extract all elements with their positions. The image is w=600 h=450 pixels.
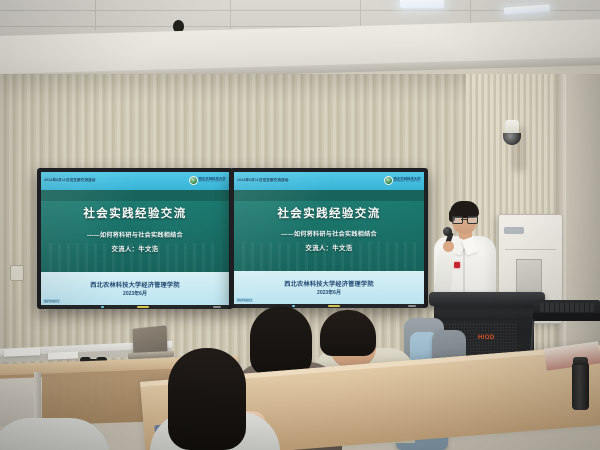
university-logo: 西北农林科技大学 NORTHWEST A&F UNIVERSITY (384, 176, 421, 185)
bottle-cap[interactable] (573, 357, 588, 365)
party-badge-icon (454, 262, 460, 268)
display-screen-right[interactable]: 2023年6月11日党支部交流活动 西北农林科技大学 NORTHWEST A&F… (230, 168, 428, 308)
slide-speaker-line: 交流人：牛文浩 (41, 244, 229, 253)
ceiling-light-panel (400, 0, 444, 8)
presentation-slide-right: 2023年6月11日党支部交流活动 西北农林科技大学 NORTHWEST A&F… (234, 172, 424, 304)
slide-organization: 西北农林科技大学经济管理学院 (90, 280, 179, 289)
audience-member-hair (320, 310, 376, 356)
control-desk-front (533, 313, 600, 321)
audience-member-hair (250, 306, 312, 376)
slide-organization: 西北农林科技大学经济管理学院 (284, 279, 373, 288)
slide-footer: 西北农林科技大学经济管理学院 2023年6月 经管学院研究生 (41, 272, 229, 305)
university-emblem-icon (384, 176, 393, 185)
university-logo: 西北农林科技大学 NORTHWEST A&F UNIVERSITY (189, 176, 226, 185)
display-screen-left[interactable]: 2023年6月11日党支部交流活动 西北农林科技大学 NORTHWEST A&F… (37, 168, 233, 309)
water-bottle[interactable] (572, 362, 589, 410)
ac-brand-badge (504, 227, 524, 234)
slide-date: 2023年6月 (317, 289, 341, 296)
wall-outlet[interactable] (10, 265, 24, 281)
presenter-shirt-placket (463, 248, 465, 296)
display-right-bezel-bottom (234, 304, 424, 308)
podium-desktop[interactable] (429, 292, 545, 306)
university-name-en: NORTHWEST A&F UNIVERSITY (199, 182, 226, 184)
slide-header-bar: 2023年6月11日党支部交流活动 西北农林科技大学 NORTHWEST A&F… (41, 172, 229, 190)
slide-footer: 西北农林科技大学经济管理学院 2023年6月 经管学院研究生 (234, 271, 424, 304)
slide-speaker-line: 交流人：牛文浩 (234, 243, 424, 252)
presenter-hand (443, 241, 454, 252)
podium-brand-label: HIOD (478, 335, 495, 341)
slide-header-text: 2023年6月11日党支部交流活动 (237, 178, 288, 183)
audience-member-hair (168, 348, 246, 450)
wall-far-right (566, 74, 600, 374)
slide-header-bar: 2023年6月11日党支部交流活动 西北农林科技大学 NORTHWEST A&F… (234, 172, 424, 190)
presentation-slide-left: 2023年6月11日党支部交流活动 西北农林科技大学 NORTHWEST A&F… (41, 172, 229, 305)
display-left-panel: 2023年6月11日党支部交流活动 西北农林科技大学 NORTHWEST A&F… (41, 172, 229, 305)
slide-subtitle: ——如何将科研与社会实践相结合 (41, 230, 229, 239)
control-panel-keys[interactable] (540, 303, 594, 312)
microphone-icon[interactable] (443, 227, 452, 236)
conference-room-photo: 2023年6月11日党支部交流活动 西北农林科技大学 NORTHWEST A&F… (0, 0, 600, 450)
paper-sheet (48, 351, 78, 359)
slide-subtitle: ——如何将科研与社会实践相结合 (234, 229, 424, 238)
display-right-panel: 2023年6月11日党支部交流活动 西北农林科技大学 NORTHWEST A&F… (234, 172, 424, 304)
display-left-bezel-bottom (41, 305, 229, 309)
paper-sheet (4, 347, 40, 357)
presenter-glasses-icon (452, 216, 476, 222)
slide-date: 2023年6月 (123, 290, 147, 297)
slide-title: 社会实践经验交流 (234, 205, 424, 221)
university-emblem-icon (189, 176, 198, 185)
university-name-en: NORTHWEST A&F UNIVERSITY (394, 182, 421, 184)
slide-corner-tag: 经管学院研究生 (236, 298, 253, 302)
slide-header-text: 2023年6月11日党支部交流活动 (44, 178, 95, 183)
slide-corner-tag: 经管学院研究生 (43, 299, 60, 303)
slide-title: 社会实践经验交流 (41, 205, 229, 221)
